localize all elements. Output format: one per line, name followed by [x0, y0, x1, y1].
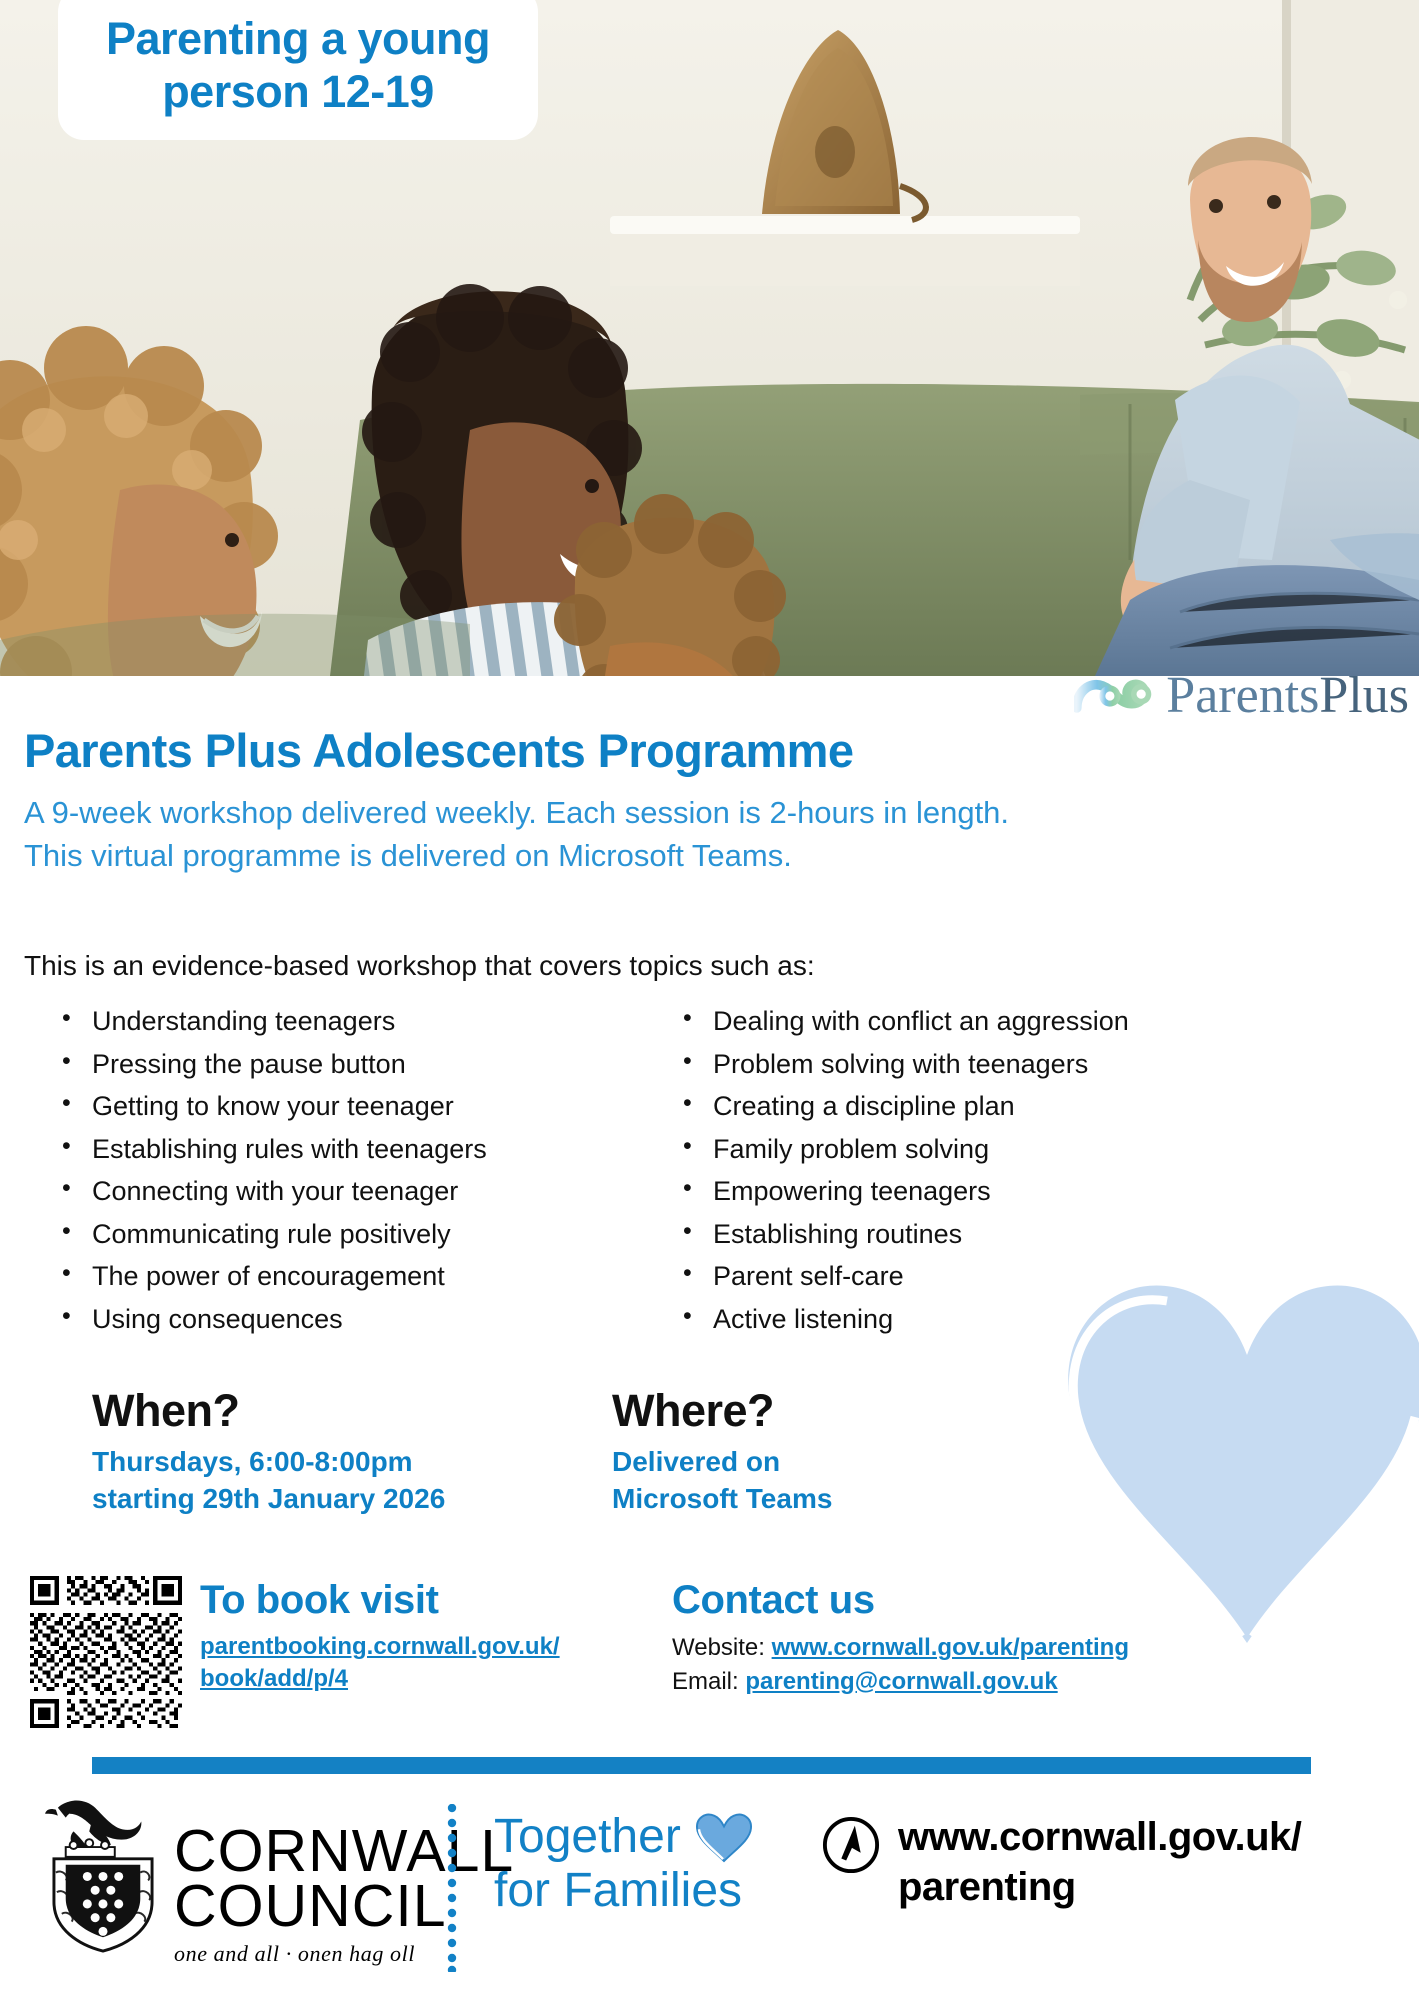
together-heart-icon: [695, 1811, 753, 1863]
together-line-1: Together: [494, 1810, 681, 1864]
footer-divider-bar: [92, 1757, 1311, 1774]
topics-column-left: Understanding teenagers Pressing the pau…: [24, 1000, 620, 1340]
cursor-arrow-icon: [822, 1816, 880, 1874]
subtitle-line-1: A 9-week workshop delivered weekly. Each…: [24, 792, 1009, 835]
council-line-2: COUNCIL: [174, 1879, 514, 1934]
list-item: Parent self-care: [713, 1255, 1241, 1298]
list-item: Creating a discipline plan: [713, 1085, 1241, 1128]
list-item: Communicating rule positively: [92, 1213, 620, 1256]
parents-plus-word-parents: Parents: [1166, 667, 1319, 724]
website-url-line-2: parenting: [898, 1862, 1301, 1912]
where-block: Where? Delivered on Microsoft Teams: [612, 1385, 1132, 1517]
list-item: The power of encouragement: [92, 1255, 620, 1298]
together-for-families-logo: Together for Families: [494, 1810, 753, 1918]
subtitle-line-2: This virtual programme is delivered on M…: [24, 835, 1009, 878]
contact-website-label: Website:: [672, 1634, 765, 1661]
list-item: Using consequences: [92, 1298, 620, 1341]
website-url-text: www.cornwall.gov.uk/ parenting: [898, 1812, 1301, 1912]
booking-url-line-1[interactable]: parentbooking.cornwall.gov.uk/: [200, 1631, 630, 1663]
list-item: Pressing the pause button: [92, 1043, 620, 1086]
list-item: Active listening: [713, 1298, 1241, 1341]
hero-title-card: Parenting a young person 12-19: [58, 0, 538, 140]
contact-block: Contact us Website: www.cornwall.gov.uk/…: [672, 1578, 1312, 1698]
cornwall-council-logo: CORNWALL COUNCIL one and all · onen hag …: [44, 1798, 514, 1967]
list-item: Problem solving with teenagers: [713, 1043, 1241, 1086]
list-item: Family problem solving: [713, 1128, 1241, 1171]
hero-photo: Parenting a young person 12-19: [0, 0, 1419, 676]
parents-plus-logo: ParentsPlus: [1074, 668, 1409, 724]
list-item: Empowering teenagers: [713, 1170, 1241, 1213]
when-line-1: Thursdays, 6:00-8:00pm: [92, 1443, 612, 1480]
booking-url-line-2[interactable]: book/add/p/4: [200, 1663, 630, 1695]
topics-list-right: Dealing with conflict an aggression Prob…: [645, 1000, 1241, 1340]
topics-column-right: Dealing with conflict an aggression Prob…: [645, 1000, 1241, 1340]
when-line-2: starting 29th January 2026: [92, 1480, 612, 1517]
contact-website-row: Website: www.cornwall.gov.uk/parenting: [672, 1631, 1312, 1665]
topics-intro: This is an evidence-based workshop that …: [24, 950, 815, 982]
list-item: Getting to know your teenager: [92, 1085, 620, 1128]
website-link-block[interactable]: www.cornwall.gov.uk/ parenting: [822, 1812, 1301, 1912]
together-row: Together: [494, 1810, 753, 1864]
cornwall-crest-icon: [44, 1798, 162, 1953]
topics-list-left: Understanding teenagers Pressing the pau…: [24, 1000, 620, 1340]
contact-email-label: Email:: [672, 1668, 739, 1695]
list-item: Establishing routines: [713, 1213, 1241, 1256]
page-subtitle: A 9-week workshop delivered weekly. Each…: [24, 792, 1009, 878]
qr-code[interactable]: [30, 1576, 182, 1728]
contact-website-link[interactable]: www.cornwall.gov.uk/parenting: [772, 1634, 1129, 1661]
where-line-2: Microsoft Teams: [612, 1480, 1132, 1517]
parents-plus-word-plus: Plus: [1319, 667, 1409, 724]
when-heading: When?: [92, 1385, 612, 1437]
cornwall-council-wordmark: CORNWALL COUNCIL one and all · onen hag …: [174, 1824, 514, 1967]
where-heading: Where?: [612, 1385, 1132, 1437]
topics-columns: Understanding teenagers Pressing the pau…: [24, 1000, 1394, 1340]
parents-plus-wordmark: ParentsPlus: [1166, 670, 1409, 722]
list-item: Connecting with your teenager: [92, 1170, 620, 1213]
parents-plus-infinity-icon: [1074, 673, 1166, 719]
when-where-section: When? Thursdays, 6:00-8:00pm starting 29…: [92, 1385, 1192, 1517]
where-line-1: Delivered on: [612, 1443, 1132, 1480]
dotted-divider: [447, 1804, 457, 1972]
hero-title-line1: Parenting a young: [78, 12, 518, 65]
council-motto: one and all · onen hag oll: [174, 1941, 514, 1967]
when-block: When? Thursdays, 6:00-8:00pm starting 29…: [92, 1385, 612, 1517]
list-item: Understanding teenagers: [92, 1000, 620, 1043]
contact-heading: Contact us: [672, 1578, 1312, 1623]
list-item: Establishing rules with teenagers: [92, 1128, 620, 1171]
booking-block: To book visit parentbooking.cornwall.gov…: [200, 1578, 630, 1694]
page-title: Parents Plus Adolescents Programme: [24, 723, 853, 778]
contact-email-row: Email: parenting@cornwall.gov.uk: [672, 1665, 1312, 1699]
contact-email-link[interactable]: parenting@cornwall.gov.uk: [745, 1668, 1057, 1695]
together-line-2: for Families: [494, 1864, 753, 1918]
council-line-1: CORNWALL: [174, 1824, 514, 1879]
footer: CORNWALL COUNCIL one and all · onen hag …: [0, 1790, 1419, 2000]
website-url-line-1: www.cornwall.gov.uk/: [898, 1812, 1301, 1862]
booking-heading: To book visit: [200, 1578, 630, 1623]
hero-title-line2: person 12-19: [78, 65, 518, 118]
list-item: Dealing with conflict an aggression: [713, 1000, 1241, 1043]
